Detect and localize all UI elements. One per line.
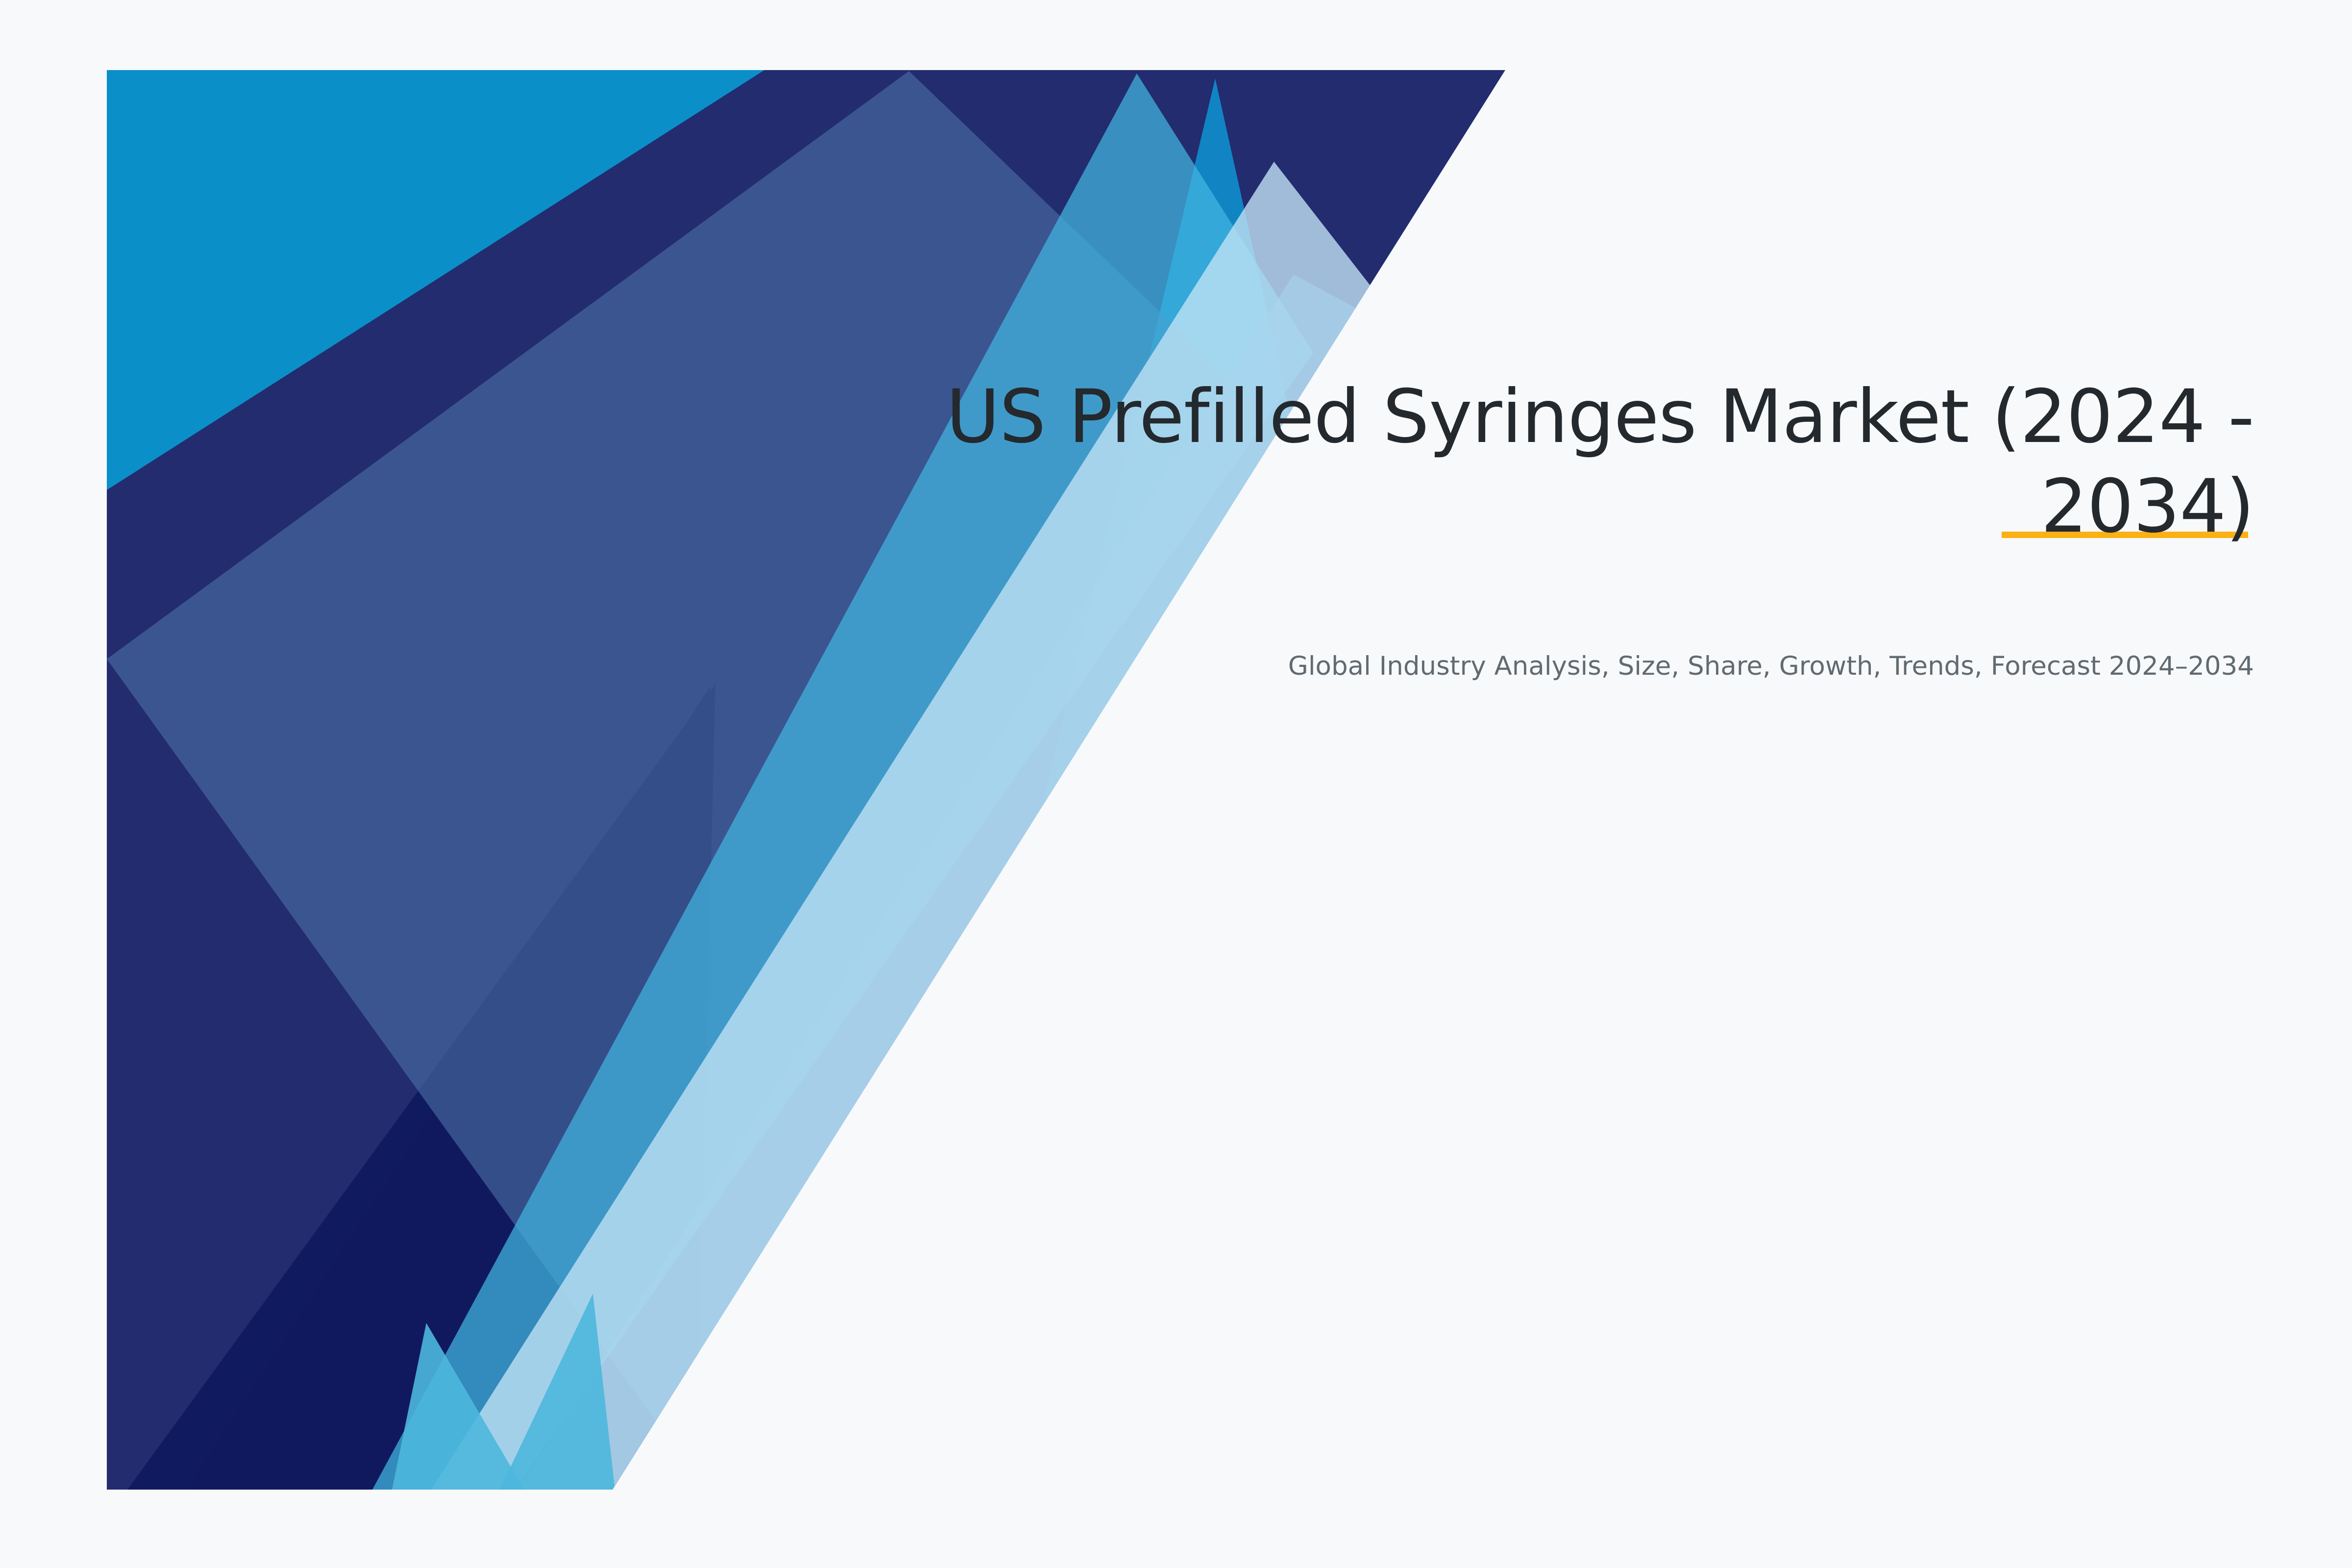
page-title: US Prefilled Syringes Market (2024 - 203…: [882, 372, 2254, 552]
abstract-angular-banner-graphic: [0, 0, 2352, 1568]
report-cover-page: US Prefilled Syringes Market (2024 - 203…: [0, 0, 2352, 1568]
cover-text-block: US Prefilled Syringes Market (2024 - 203…: [882, 372, 2254, 685]
page-subtitle: Global Industry Analysis, Size, Share, G…: [882, 552, 2254, 685]
